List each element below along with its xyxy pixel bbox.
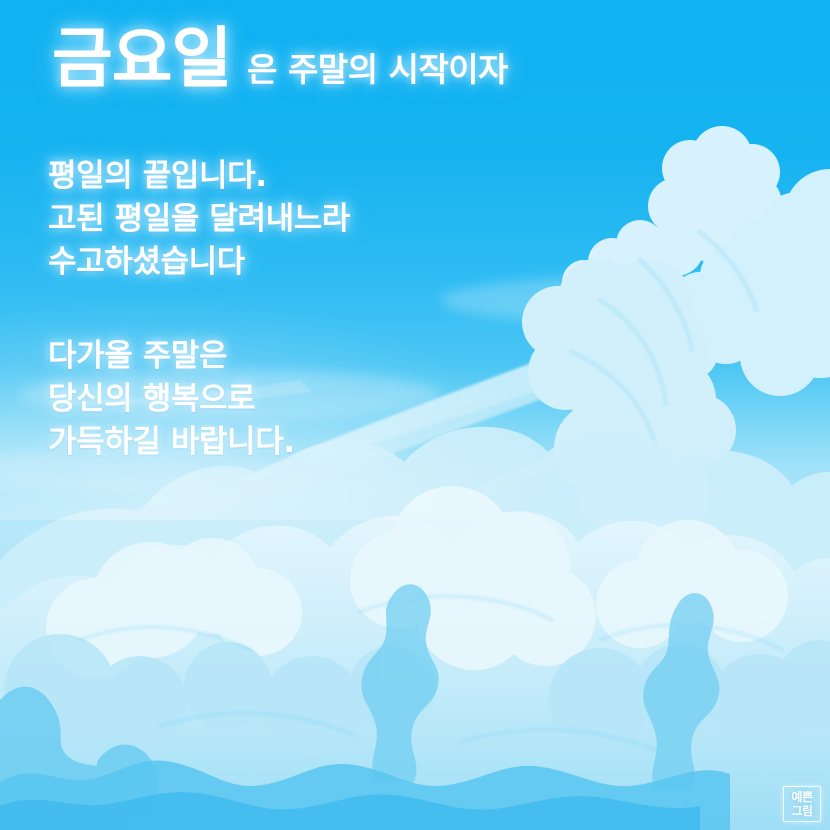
headline-title: 금요일 bbox=[52, 26, 231, 92]
paragraph-2-line-3: 가득하길 바랍니다. bbox=[48, 421, 295, 464]
headline-subtitle: 은 주말의 시작이자 bbox=[247, 53, 508, 86]
paragraph-2-line-1: 다가올 주말은 bbox=[48, 335, 295, 378]
message-paragraph-1: 평일의 끝입니다. 고된 평일을 달려내느라 수고하셨습니다 bbox=[48, 155, 350, 283]
paragraph-1-line-2: 고된 평일을 달려내느라 bbox=[48, 198, 350, 241]
paragraph-1-line-1: 평일의 끝입니다. bbox=[48, 155, 350, 198]
watermark-badge: 예쁜 그림 bbox=[783, 786, 821, 822]
paragraph-1-line-3: 수고하셨습니다 bbox=[48, 241, 350, 284]
message-paragraph-2: 다가올 주말은 당신의 행복으로 가득하길 바랍니다. bbox=[48, 335, 295, 463]
headline: 금요일 은 주말의 시작이자 bbox=[52, 26, 508, 92]
paragraph-2-line-2: 당신의 행복으로 bbox=[48, 378, 295, 421]
watermark-line-2: 그림 bbox=[791, 805, 812, 818]
watermark-line-1: 예쁜 bbox=[791, 791, 812, 804]
greeting-card: 금요일 은 주말의 시작이자 평일의 끝입니다. 고된 평일을 달려내느라 수고… bbox=[0, 0, 830, 830]
